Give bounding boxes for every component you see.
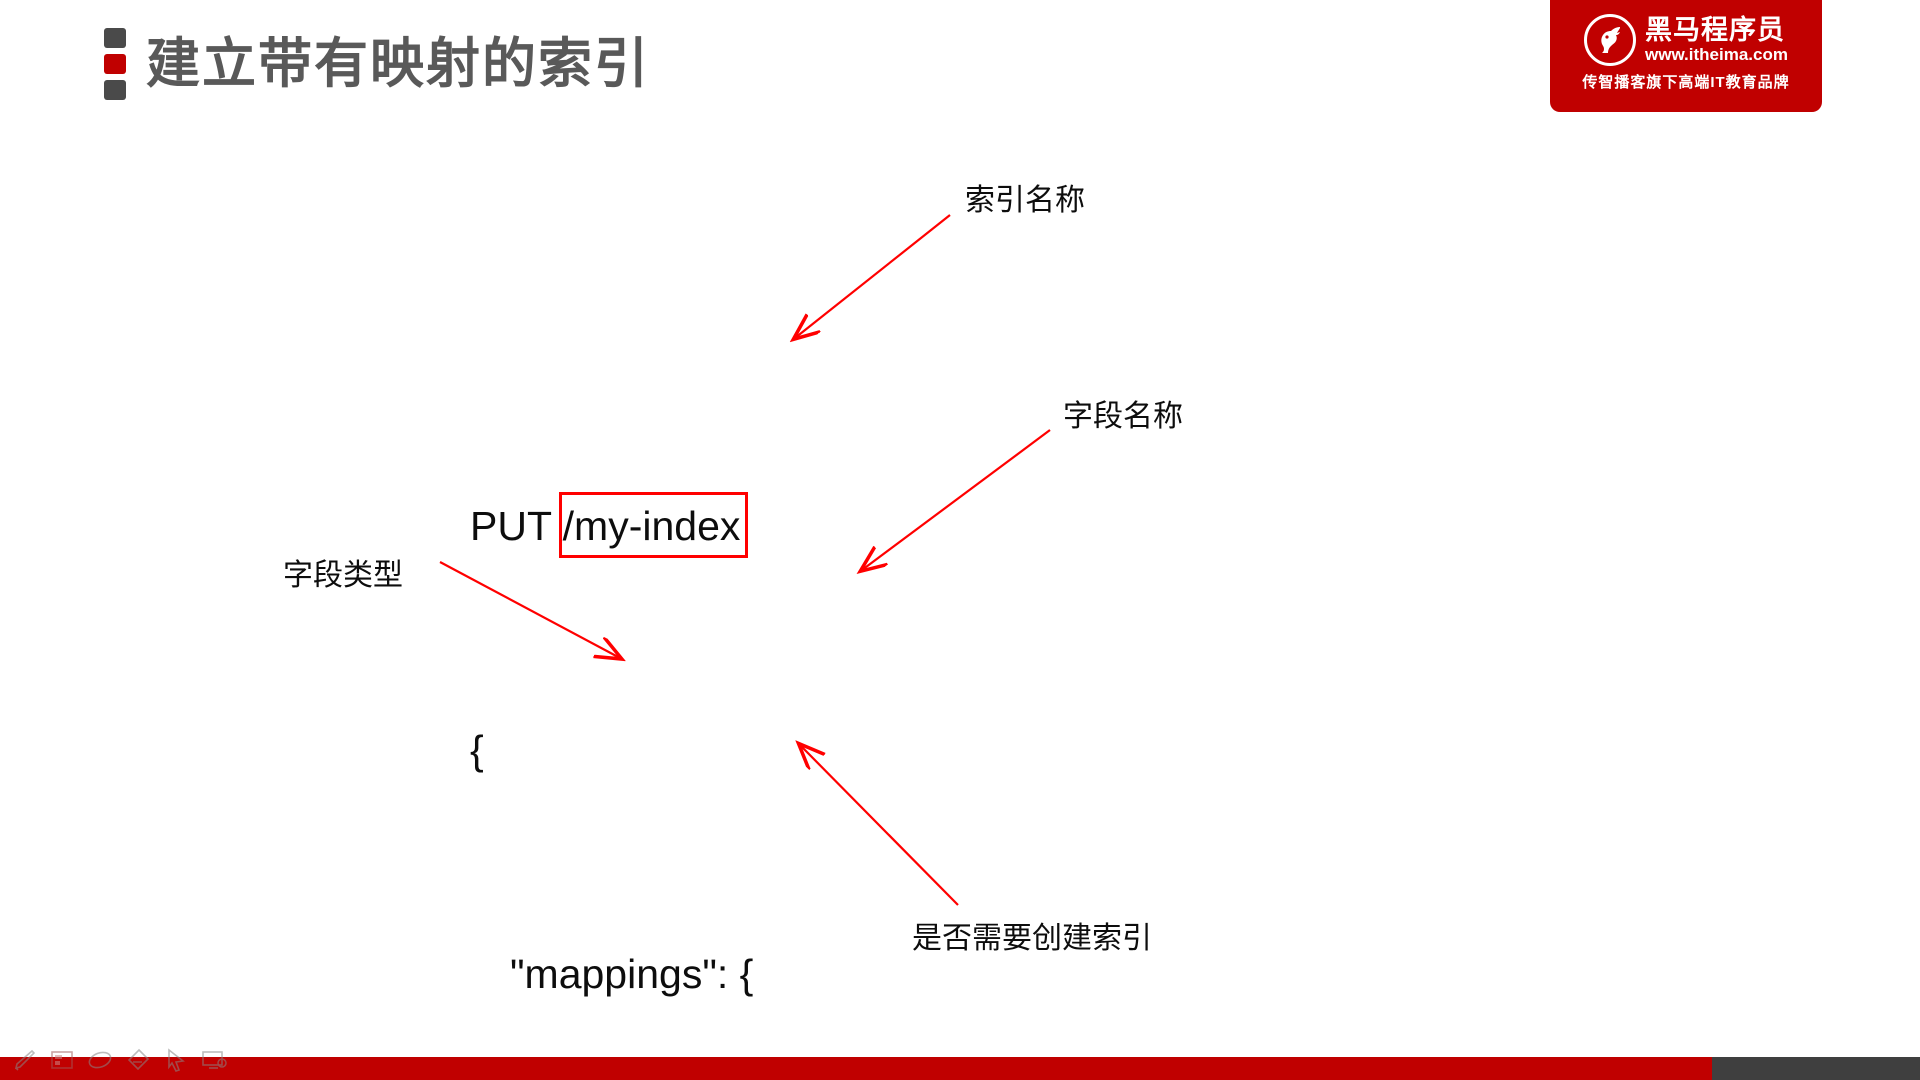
screenshot-icon[interactable] <box>48 1047 76 1073</box>
annotation-need-index: 是否需要创建索引 <box>912 913 1152 957</box>
annotation-field-type: 字段类型 <box>283 550 403 594</box>
ink-toolbar[interactable] <box>10 1047 228 1073</box>
arrow-field-name <box>862 430 1050 570</box>
arrow-field-type <box>440 562 620 658</box>
bottom-bar-red <box>0 1057 1712 1080</box>
arrow-need-index <box>800 745 958 905</box>
pen-icon[interactable] <box>10 1047 38 1073</box>
annotation-field-name: 字段名称 <box>1063 391 1183 435</box>
pointer-icon[interactable] <box>162 1047 190 1073</box>
bottom-bar-dark <box>1712 1057 1920 1080</box>
slide-canvas: 建立带有映射的索引 黑马程序员 www.itheima.com 传智播客旗下高端… <box>0 0 1920 1080</box>
display-icon[interactable] <box>200 1047 228 1073</box>
annotation-index-name: 索引名称 <box>965 175 1085 219</box>
arrow-index-name <box>795 215 950 338</box>
eraser-icon[interactable] <box>124 1047 152 1073</box>
ellipse-icon[interactable] <box>86 1047 114 1073</box>
